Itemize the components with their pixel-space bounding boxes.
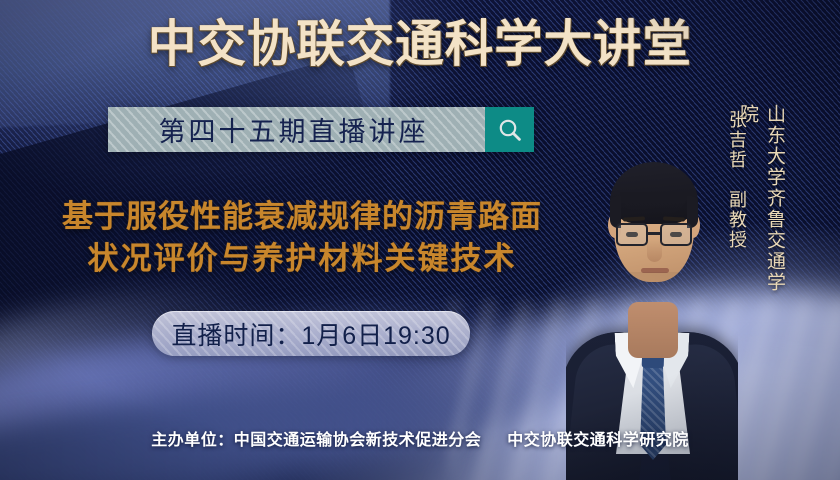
lecture-title-line-2: 状况评价与养护材料关键技术 (22, 238, 582, 280)
footer-organizer-1: 中国交通运输协会新技术促进分会 (234, 432, 482, 449)
portrait-hair (610, 162, 698, 224)
portrait-nose (647, 240, 662, 262)
lecture-title-line-1: 基于服役性能衰减规律的沥青路面 (22, 196, 582, 238)
schedule-text: 直播时间：1月6日19:30 (171, 316, 450, 352)
portrait-lens-right (660, 223, 692, 246)
episode-label: 第四十五期直播讲座 (108, 107, 485, 152)
lecture-title: 基于服役性能衰减规律的沥青路面 状况评价与养护材料关键技术 (22, 196, 582, 280)
speaker-portrait (566, 96, 738, 480)
footer-organizer-2: 中交协联交通科学研究院 (507, 432, 689, 449)
episode-banner: 第四十五期直播讲座 (108, 107, 534, 152)
page-title: 中交协联交通科学大讲堂 (13, 14, 828, 74)
footer-organizers: 主办单位：中国交通运输协会新技术促进分会中交协联交通科学研究院 (0, 426, 840, 450)
footer-prefix: 主办单位： (151, 432, 234, 449)
schedule-badge: 直播时间：1月6日19:30 (152, 311, 470, 356)
portrait-neck (628, 302, 678, 358)
live-lecture-poster: 中交协联交通科学大讲堂 第四十五期直播讲座 基于服役性能衰减规律的沥青路面 状况… (0, 0, 840, 480)
portrait-glasses-bridge (648, 232, 660, 235)
portrait-chin (628, 272, 680, 288)
search-button[interactable] (485, 107, 534, 152)
portrait-lens-left (616, 223, 648, 246)
search-icon (497, 117, 523, 143)
